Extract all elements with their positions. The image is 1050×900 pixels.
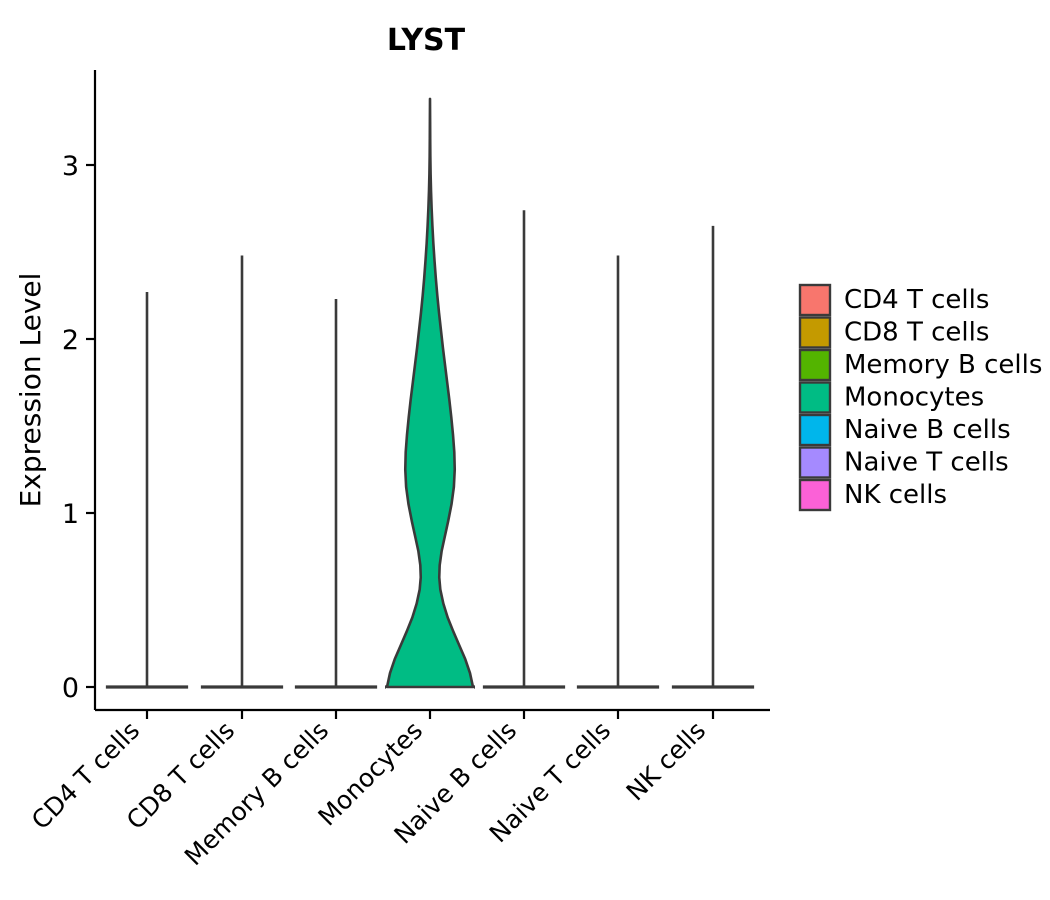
page-title: LYST — [387, 23, 466, 58]
legend-color-swatch — [800, 415, 830, 445]
legend-color-swatch — [800, 350, 830, 380]
y-tick-label: 0 — [62, 673, 79, 704]
legend-label: Naive B cells — [844, 415, 1011, 445]
y-tick-label: 2 — [62, 325, 79, 356]
legend-item-nk-cells[interactable]: NK cells — [800, 480, 947, 510]
legend-label: Memory B cells — [844, 350, 1042, 380]
plot-canvas: LYST 0123 CD4 T cellsCD8 T cellsMemory B… — [0, 0, 1050, 900]
y-tick-label: 3 — [62, 151, 79, 182]
legend-item-cd4-t-cells[interactable]: CD4 T cells — [800, 285, 989, 315]
legend-label: Monocytes — [844, 383, 984, 413]
legend-color-swatch — [800, 383, 830, 413]
y-tick-label: 1 — [62, 499, 79, 530]
legend-color-swatch — [800, 318, 830, 348]
legend-color-swatch — [800, 480, 830, 510]
legend-color-swatch — [800, 448, 830, 478]
legend-color-swatch — [800, 285, 830, 315]
violin-plot-figure: LYST 0123 CD4 T cellsCD8 T cellsMemory B… — [0, 0, 1050, 900]
legend-item-monocytes[interactable]: Monocytes — [800, 383, 984, 413]
legend-label: CD8 T cells — [844, 318, 989, 348]
y-axis-title: Expression Level — [14, 273, 47, 508]
legend-label: NK cells — [844, 480, 947, 510]
legend-label: CD4 T cells — [844, 285, 989, 315]
legend-item-cd8-t-cells[interactable]: CD8 T cells — [800, 318, 989, 348]
legend-label: Naive T cells — [844, 448, 1009, 478]
